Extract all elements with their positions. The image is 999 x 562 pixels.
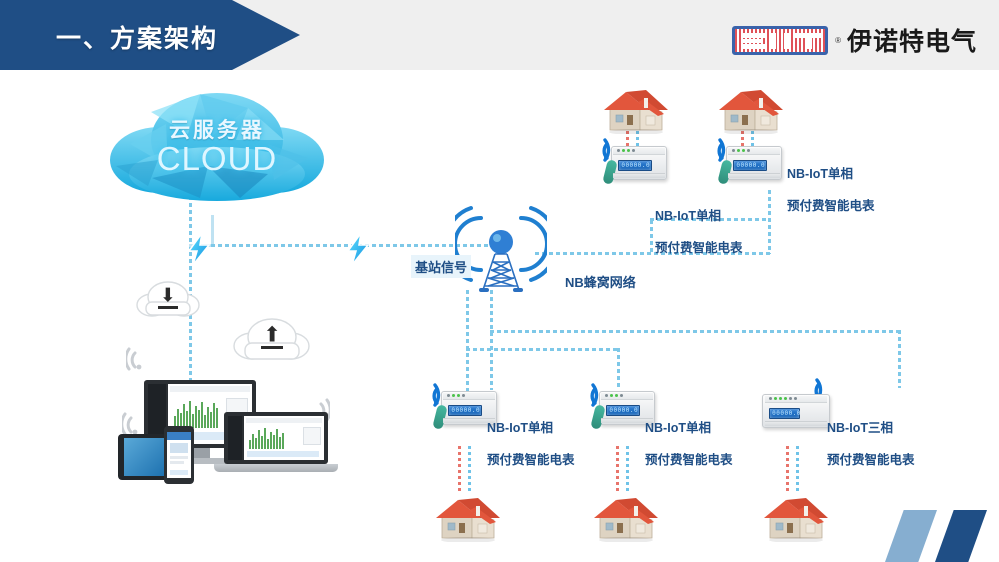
upload-tray-icon: [261, 346, 283, 349]
meter-label-line2: 预付费智能电表: [487, 452, 575, 468]
slide-header: 一、方案架构 ENT ® 伊诺特电气: [0, 0, 999, 70]
upload-arrow-icon: ⬆: [263, 325, 281, 346]
meter-display-value: 00000.0: [621, 162, 650, 169]
house-icon: [760, 492, 832, 542]
meter-led-strip: [765, 396, 828, 403]
meter-top-1-label: NB-IoT单相 预付费智能电表: [655, 192, 743, 272]
house-bottom-2: [590, 492, 654, 538]
page-title: 一、方案架构: [56, 19, 218, 55]
house-bottom-3: [760, 492, 824, 538]
link-bottom-trunk: [466, 348, 620, 351]
data-line-house-bottom-3: [796, 446, 799, 492]
lightning-bolt-icon-right: [345, 232, 371, 266]
meter-label-line1: NB-IoT单相: [645, 420, 733, 436]
meter-label-line1: NB-IoT单相: [655, 208, 743, 224]
registered-mark: ®: [835, 36, 841, 45]
power-line-house-bottom-1: [458, 446, 461, 492]
cloud-server-graphic: 云服务器 CLOUD: [108, 82, 326, 212]
meter-label-line1: NB-IoT三相: [827, 420, 915, 436]
meter-led-strip: [613, 148, 665, 155]
meter-label-line2: 预付费智能电表: [645, 452, 733, 468]
meter-bottom-3[interactable]: 00000.0: [762, 394, 830, 428]
brand-name: 伊诺特电气: [847, 22, 977, 58]
meter-rail: [613, 173, 665, 178]
smartphone-icon[interactable]: [164, 426, 194, 484]
wifi-arcs: [126, 345, 156, 371]
cloud-label-en: CLOUD: [108, 140, 326, 178]
house-icon: [590, 492, 662, 542]
meter-led-strip: [443, 393, 495, 400]
meter-rail: [728, 173, 780, 178]
link-tower-down-a: [466, 290, 469, 400]
meter-label-line1: NB-IoT单相: [487, 420, 575, 436]
link-meter-top-2-riser: [768, 190, 771, 254]
data-line-house-bottom-1: [468, 446, 471, 492]
power-line-house-bottom-2: [616, 446, 619, 492]
house-top-1: [600, 84, 664, 130]
meter-display-value: 00000.0: [451, 407, 480, 414]
meter-display: 00000.0: [733, 160, 768, 172]
wifi-signal-icon-left: [126, 345, 156, 376]
client-device-cluster: [118, 378, 338, 486]
meter-label-line2: 预付费智能电表: [827, 452, 915, 468]
download-arrow-icon: ⬇: [160, 287, 176, 306]
data-line-house-bottom-2: [626, 446, 629, 492]
cloud-upload-icon: ⬆: [233, 313, 311, 363]
meter-bottom-1-label: NB-IoT单相 预付费智能电表: [487, 404, 575, 484]
brand-logo: ENT ® 伊诺特电气: [732, 22, 977, 58]
meter-display: 00000.0: [448, 405, 483, 417]
cellular-network-label: NB蜂窝网络: [565, 272, 636, 291]
meter-display: 00000.0: [606, 405, 641, 417]
download-tray-icon: [158, 306, 178, 309]
meter-rail: [765, 421, 828, 426]
link-tower-trunk-lower: [490, 330, 901, 333]
power-line-house-bottom-3: [786, 446, 789, 492]
house-icon: [432, 492, 504, 542]
link-tower-down-b: [490, 290, 493, 390]
meter-top-2-label: NB-IoT单相 预付费智能电表: [787, 150, 875, 230]
laptop-icon[interactable]: [214, 412, 338, 476]
tower-shape: [455, 198, 547, 296]
meter-led-strip: [728, 148, 780, 155]
meter-top-2[interactable]: 00000.0: [726, 146, 782, 180]
meter-display-value: 00000.0: [772, 410, 801, 417]
meter-display: 00000.0: [769, 408, 800, 420]
base-station-label: 基站信号: [411, 255, 471, 278]
slide-canvas: 一、方案架构 ENT ® 伊诺特电气: [0, 0, 999, 562]
house-top-2: [715, 84, 779, 130]
meter-label-line2: 预付费智能电表: [787, 198, 875, 214]
meter-bottom-2-label: NB-IoT单相 预付费智能电表: [645, 404, 733, 484]
corner-decoration-dark: [935, 510, 987, 562]
bolt-shape: [345, 232, 371, 266]
corner-decoration-light: [885, 510, 937, 562]
meter-top-1[interactable]: 00000.0: [611, 146, 667, 180]
lightning-bolt-icon-left: [186, 232, 212, 266]
link-meter-top-1-riser: [650, 220, 653, 254]
meter-display-value: 00000.0: [736, 162, 765, 169]
ent-logo-mark: ENT: [732, 26, 828, 55]
cloud-download-icon: ⬇: [136, 277, 200, 319]
meter-label-line2: 预付费智能电表: [655, 240, 743, 256]
house-bottom-1: [432, 492, 496, 538]
link-right-down: [898, 330, 901, 388]
meter-led-strip: [601, 393, 653, 400]
monitor-bar-chart: [174, 398, 218, 428]
meter-label-line1: NB-IoT单相: [787, 166, 875, 182]
meter-display: 00000.0: [618, 160, 653, 172]
house-icon: [715, 84, 787, 134]
bolt-shape: [186, 232, 212, 266]
cell-tower-icon: [455, 198, 547, 296]
meter-bottom-3-label: NB-IoT三相 预付费智能电表: [827, 404, 915, 484]
house-icon: [600, 84, 672, 134]
laptop-bar-chart: [249, 427, 284, 449]
link-meter-b2-riser: [617, 348, 620, 390]
meter-display-value: 00000.0: [609, 407, 638, 414]
